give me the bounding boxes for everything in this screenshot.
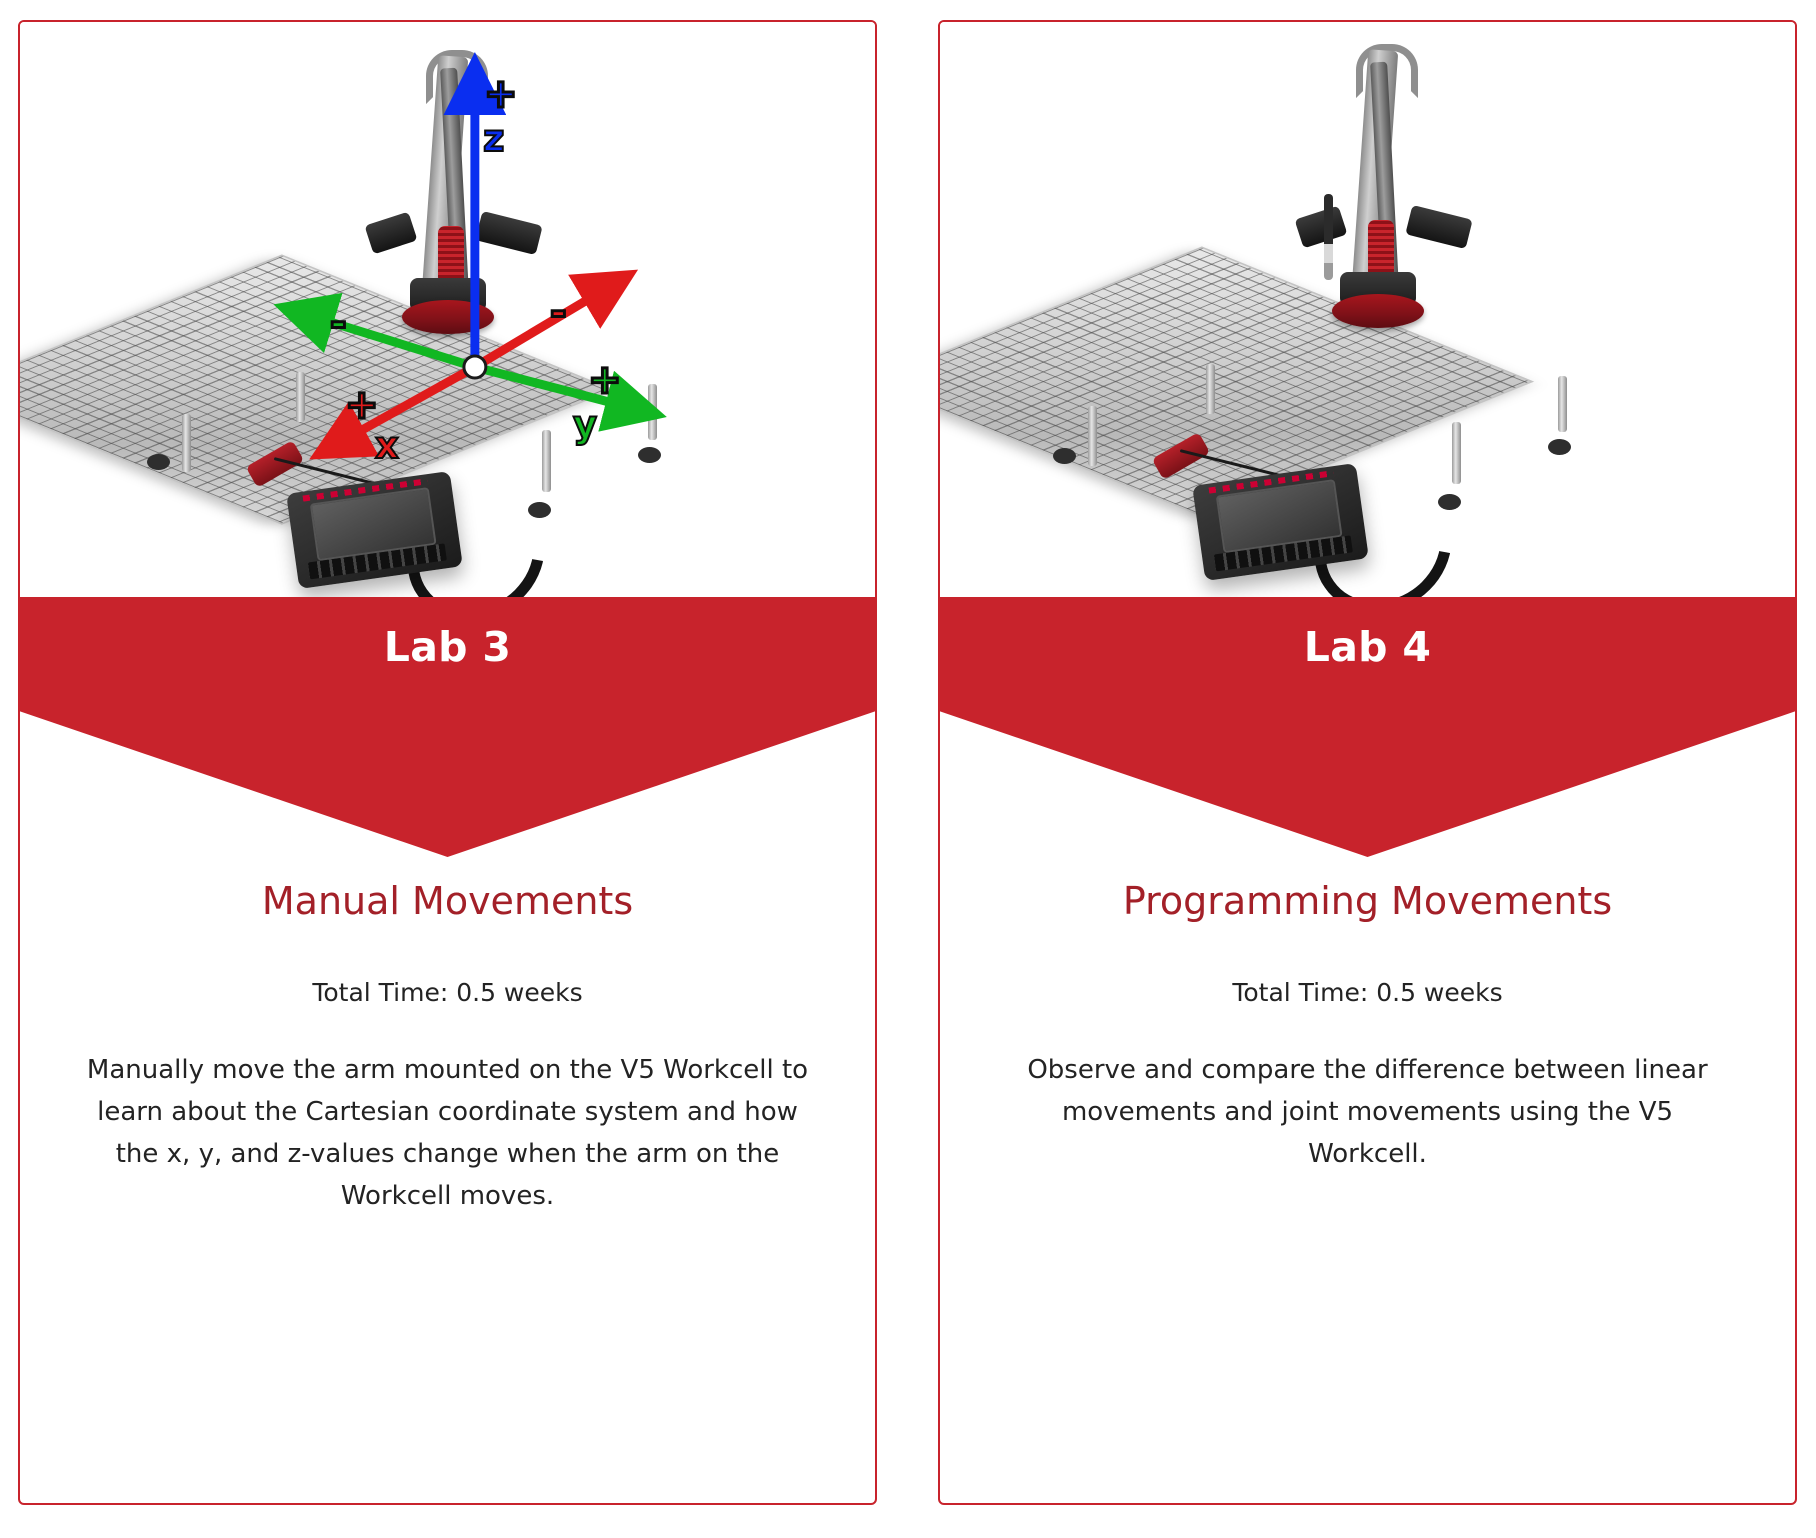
lab-3-banner-label: Lab 3 — [20, 623, 875, 671]
lab-card-deck: + z - + y - + x Lab 3 Manual Movements T… — [0, 0, 1816, 1538]
lab-4-banner-label: Lab 4 — [940, 623, 1795, 671]
table-leg — [542, 430, 551, 492]
arm-gear-stack — [1368, 220, 1394, 278]
table-leg — [648, 384, 657, 440]
table-leg — [1558, 376, 1567, 432]
lab-3-total-time: Total Time: 0.5 weeks — [86, 977, 809, 1010]
lab-card-4[interactable]: Lab 4 Programming Movements Total Time: … — [938, 20, 1797, 1505]
lab-card-3[interactable]: + z - + y - + x Lab 3 Manual Movements T… — [18, 20, 877, 1505]
arm-rotating-base — [1332, 294, 1424, 328]
table-foot — [1548, 439, 1571, 455]
robot-arm-assembly — [386, 50, 510, 350]
workcell-table-surface — [20, 254, 614, 524]
table-foot — [638, 447, 661, 463]
lab-4-total-time: Total Time: 0.5 weeks — [1006, 977, 1729, 1010]
x-negative-sign: - — [550, 292, 567, 332]
arm-left-motor — [364, 212, 417, 255]
lab-4-banner: Lab 4 — [940, 597, 1795, 857]
workcell-illustration-4 — [940, 22, 1795, 597]
lab-3-title: Manual Movements — [86, 879, 809, 925]
table-leg — [1206, 364, 1215, 414]
lab-4-body: Programming Movements Total Time: 0.5 we… — [940, 857, 1795, 1503]
table-leg — [182, 414, 191, 472]
table-leg — [296, 372, 305, 422]
lab-4-description: Observe and compare the difference betwe… — [1006, 1049, 1729, 1175]
arm-left-motor — [1294, 206, 1347, 249]
table-leg — [1452, 422, 1461, 484]
lab-3-banner: Lab 3 — [20, 597, 875, 857]
lab-3-body: Manual Movements Total Time: 0.5 weeks M… — [20, 857, 875, 1503]
workcell-illustration-3: + z - + y - + x — [20, 22, 875, 597]
table-foot — [147, 454, 170, 470]
lab-4-figure — [940, 22, 1795, 597]
arm-gear-stack — [438, 226, 464, 284]
lab-3-figure: + z - + y - + x — [20, 22, 875, 597]
arm-marker-pen — [1324, 194, 1333, 280]
y-axis-label: y — [573, 406, 597, 443]
robot-arm-assembly — [1316, 44, 1440, 344]
table-foot — [1053, 448, 1076, 464]
arm-rotating-base — [402, 300, 494, 334]
lab-3-description: Manually move the arm mounted on the V5 … — [86, 1049, 809, 1217]
workcell-table-surface — [940, 246, 1534, 516]
table-leg — [1088, 406, 1097, 466]
arm-right-motor — [1405, 205, 1472, 249]
arm-right-motor — [475, 211, 542, 255]
lab-4-title: Programming Movements — [1006, 879, 1729, 925]
